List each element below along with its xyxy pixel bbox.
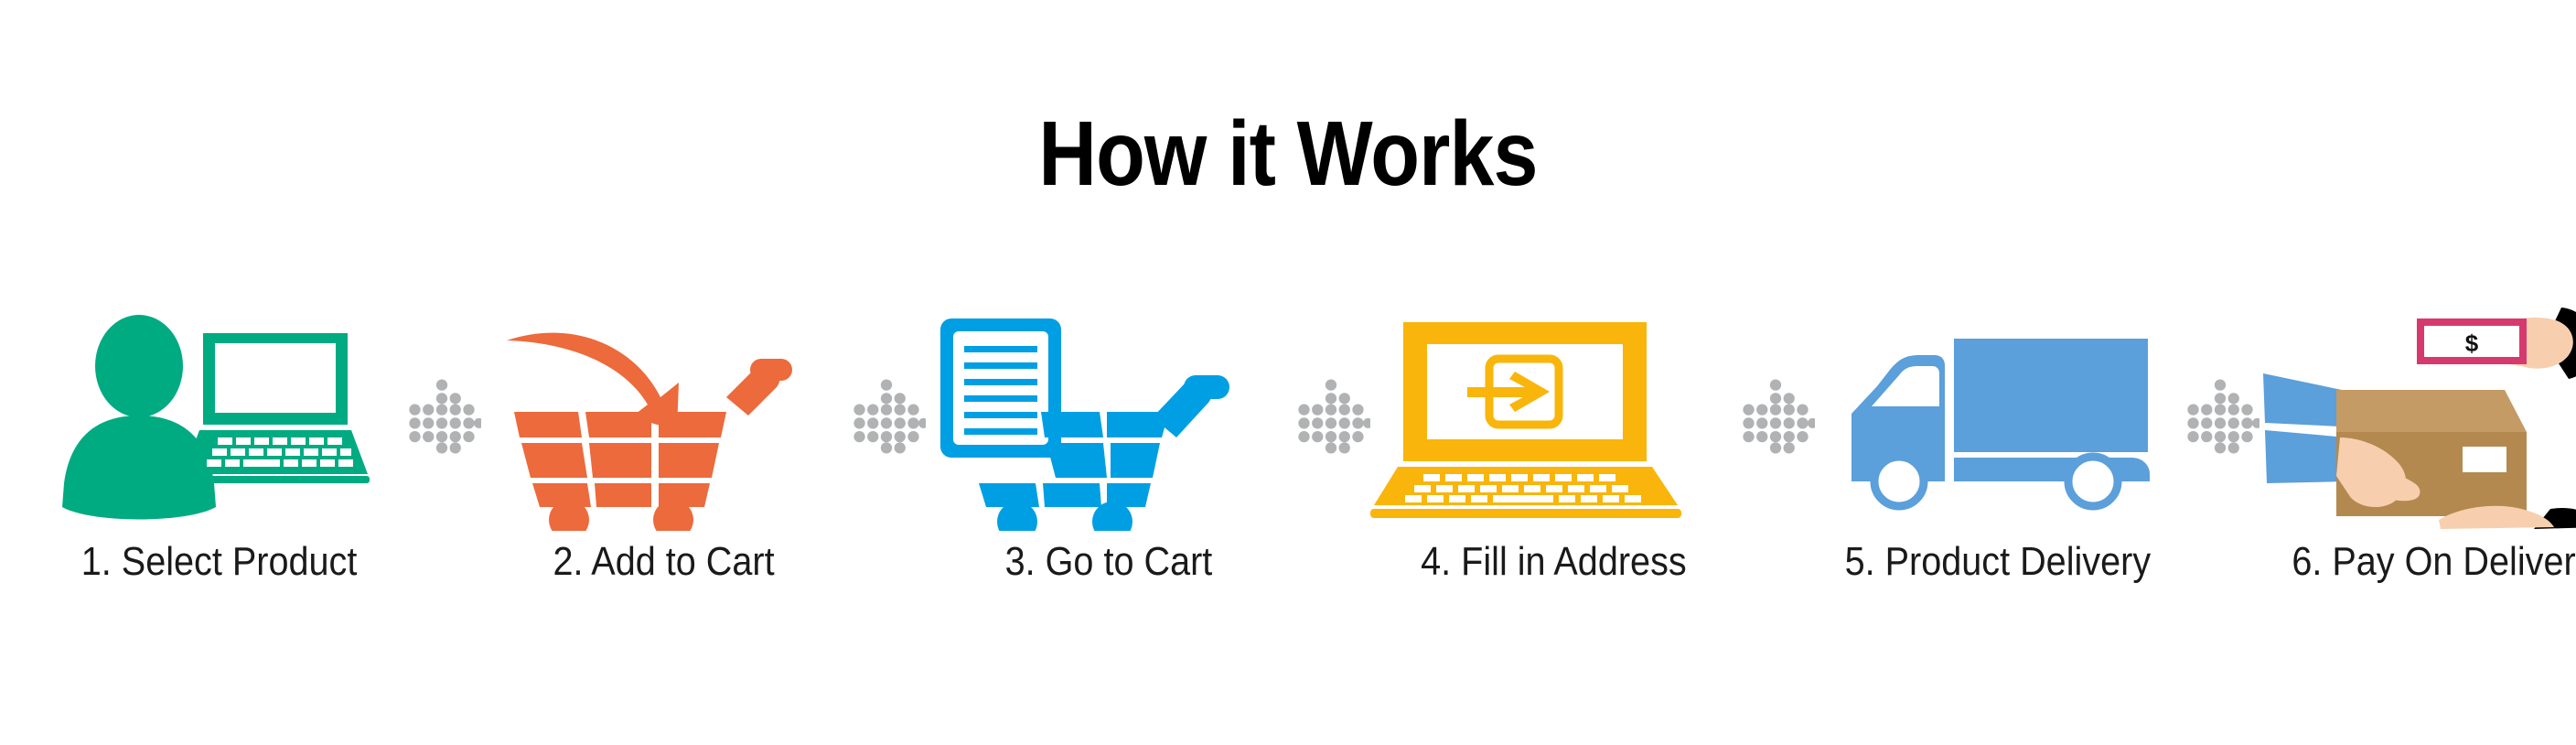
dotted-arrow-right-icon bbox=[2181, 377, 2259, 456]
how-it-works-infographic: How it Works bbox=[0, 0, 2576, 745]
separator-5 bbox=[2181, 302, 2259, 531]
step-5-label: 5. Product Delivery bbox=[1845, 538, 2152, 586]
step-3-go-to-cart[interactable]: 3. Go to Cart bbox=[926, 302, 1292, 586]
step-3-label: 3. Go to Cart bbox=[1005, 538, 1213, 586]
separator-2 bbox=[847, 302, 926, 531]
separator-4 bbox=[1736, 302, 1815, 531]
steps-row: 1. Select Product bbox=[37, 302, 2543, 613]
delivery-truck-icon bbox=[1815, 302, 2181, 531]
step-5-product-delivery[interactable]: 5. Product Delivery bbox=[1815, 302, 2181, 586]
step-1-select-product[interactable]: 1. Select Product bbox=[37, 302, 402, 586]
dotted-arrow-right-icon bbox=[1292, 377, 1370, 456]
hands-exchanging-box-and-money-icon: $ bbox=[2259, 302, 2576, 531]
person-with-laptop-icon bbox=[37, 302, 402, 531]
step-4-label: 4. Fill in Address bbox=[1421, 538, 1687, 586]
step-1-label: 1. Select Product bbox=[81, 538, 358, 586]
separator-3 bbox=[1292, 302, 1370, 531]
dotted-arrow-right-icon bbox=[1736, 377, 1815, 456]
document-with-cart-icon bbox=[926, 302, 1292, 531]
laptop-with-login-arrow-icon bbox=[1370, 302, 1736, 531]
separator-1 bbox=[402, 302, 481, 531]
shopping-cart-with-arrow-icon bbox=[481, 302, 847, 531]
step-6-label: 6. Pay On Delivery bbox=[2292, 538, 2576, 586]
step-2-add-to-cart[interactable]: 2. Add to Cart bbox=[481, 302, 847, 586]
dotted-arrow-right-icon bbox=[847, 377, 926, 456]
dotted-arrow-right-icon bbox=[402, 377, 481, 456]
step-2-label: 2. Add to Cart bbox=[553, 538, 775, 586]
step-6-pay-on-delivery[interactable]: $ 6. Pay On D bbox=[2259, 302, 2576, 586]
step-4-fill-in-address[interactable]: 4. Fill in Address bbox=[1370, 302, 1736, 586]
page-title: How it Works bbox=[155, 108, 2421, 200]
money-dollar-symbol: $ bbox=[2465, 329, 2479, 357]
